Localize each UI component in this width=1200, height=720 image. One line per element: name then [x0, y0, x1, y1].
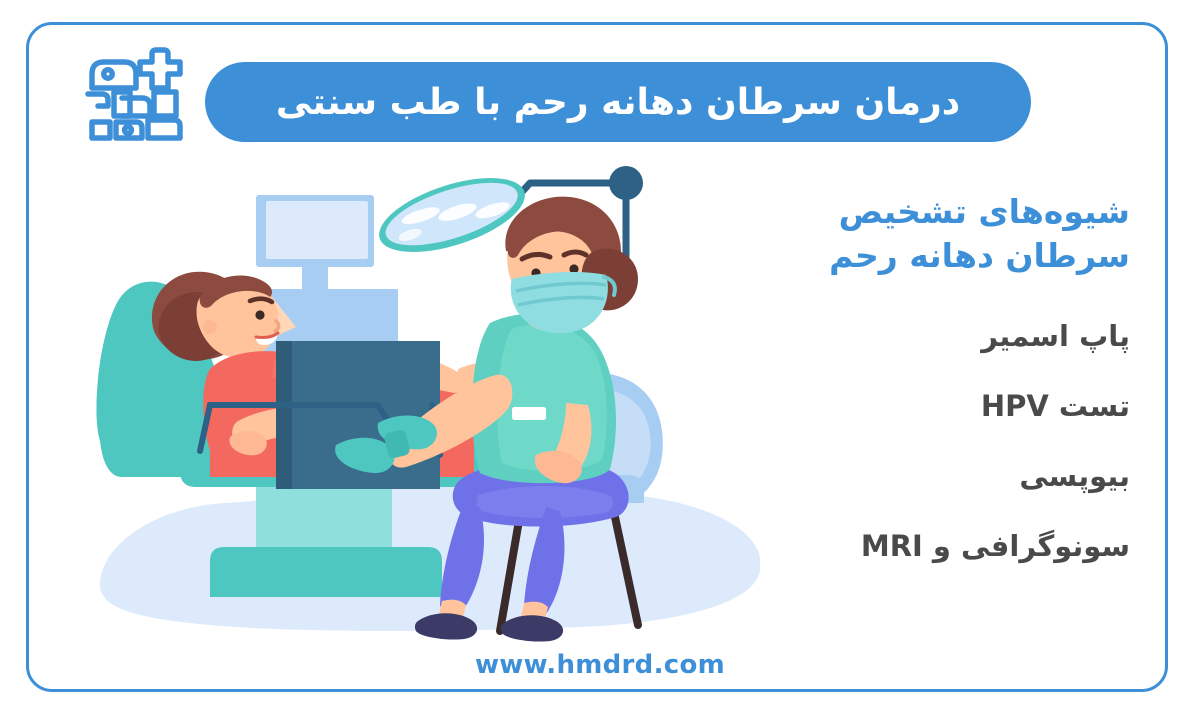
infographic-canvas: درمان سرطان دهانه رحم با طب سنتی — [0, 0, 1200, 720]
website-url[interactable]: www.hmdrd.com — [0, 650, 1200, 680]
diagnosis-method-hpv-test: تست HPV — [800, 391, 1130, 423]
diagnosis-method-biopsy: بیوپسی — [800, 461, 1130, 493]
diagnosis-methods-panel: شیوه‌های تشخیص سرطان دهانه رحم پاپ اسمیر… — [800, 190, 1130, 563]
lamp-arm-joint — [609, 166, 643, 200]
brand-logo[interactable] — [78, 38, 190, 150]
illustration-container — [60, 155, 760, 655]
page-title: درمان سرطان دهانه رحم با طب سنتی — [276, 82, 960, 123]
title-banner: درمان سرطان دهانه رحم با طب سنتی — [205, 62, 1031, 142]
diagnosis-methods-heading: شیوه‌های تشخیص سرطان دهانه رحم — [800, 190, 1130, 277]
diagnosis-method-ultrasound-mri: سونوگرافی و MRI — [800, 531, 1130, 563]
diagnosis-method-pap-smear: پاپ اسمیر — [800, 321, 1130, 353]
